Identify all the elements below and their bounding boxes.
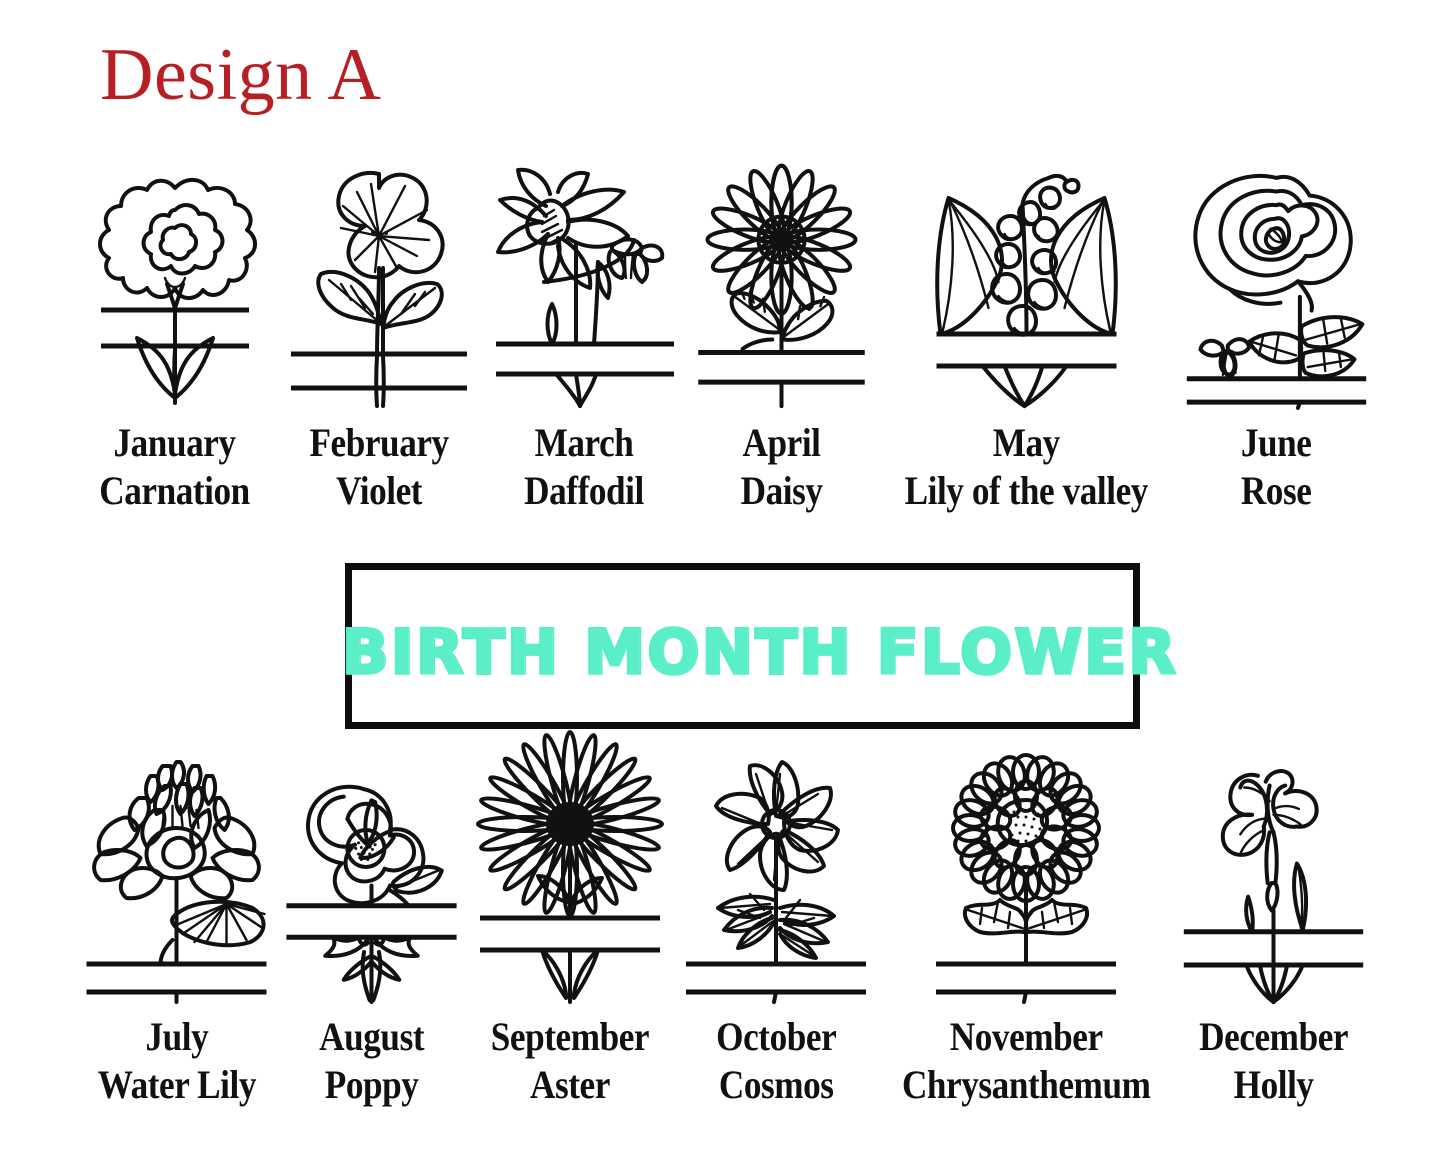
flower-name-label: Cosmos	[716, 1064, 836, 1106]
flower-name-label: Poppy	[319, 1064, 424, 1106]
daffodil-flower-icon	[479, 158, 689, 408]
flower-caption-november: November Chrysanthemum	[885, 1016, 1167, 1106]
month-label: November	[902, 1016, 1151, 1058]
month-label: January	[100, 422, 251, 464]
flower-row-top: January Carnation February	[0, 158, 1445, 512]
flower-name-label: Aster	[491, 1064, 649, 1106]
flower-cell-february[interactable]: February Violet	[279, 158, 479, 512]
rose-flower-icon	[1179, 158, 1374, 408]
month-label: February	[309, 422, 448, 464]
holly-flower-icon	[1176, 752, 1371, 1002]
flower-caption-september: September Aster	[480, 1016, 660, 1106]
flower-cell-august[interactable]: August Poppy	[279, 752, 464, 1106]
cosmos-flower-icon	[676, 752, 876, 1002]
flower-cell-june[interactable]: June Rose	[1179, 158, 1374, 512]
flower-caption-february: February Violet	[300, 422, 458, 512]
flower-cell-july[interactable]: July Water Lily	[74, 752, 279, 1106]
flower-cell-november[interactable]: November Chrysanthemum	[876, 752, 1176, 1106]
flower-caption-march: March Daffodil	[516, 422, 652, 512]
daisy-flower-icon	[689, 158, 874, 408]
chrysanthemum-flower-icon	[876, 752, 1176, 1002]
flower-name-label: Lily of the valley	[905, 470, 1148, 512]
month-label: May	[905, 422, 1148, 464]
flower-caption-may: May Lily of the valley	[888, 422, 1165, 512]
flower-row-bottom: July Water Lily	[0, 752, 1445, 1106]
flower-cell-september[interactable]: September Aster	[464, 752, 676, 1106]
flower-name-label: Water Lily	[97, 1064, 255, 1106]
water-lily-flower-icon	[74, 752, 279, 1002]
flower-caption-october: October Cosmos	[708, 1016, 844, 1106]
lily-of-the-valley-flower-icon	[874, 158, 1179, 408]
flower-name-label: Holly	[1199, 1064, 1348, 1106]
flower-cell-january[interactable]: January Carnation	[71, 158, 279, 512]
flower-name-label: Daisy	[741, 470, 823, 512]
month-label: April	[741, 422, 823, 464]
month-label: October	[716, 1016, 836, 1058]
aster-flower-icon	[464, 752, 676, 1002]
flower-caption-august: August Poppy	[312, 1016, 431, 1106]
flower-caption-january: January Carnation	[89, 422, 260, 512]
poppy-flower-icon	[279, 752, 464, 1002]
flower-cell-april[interactable]: April Daisy	[689, 158, 874, 512]
month-label: July	[97, 1016, 255, 1058]
flower-cell-march[interactable]: March Daffodil	[479, 158, 689, 512]
carnation-flower-icon	[71, 158, 279, 408]
flower-caption-july: July Water Lily	[87, 1016, 267, 1106]
month-label: March	[524, 422, 644, 464]
month-label: December	[1199, 1016, 1348, 1058]
banner-title: BIRTH MONTH FLOWER	[360, 612, 1160, 692]
flower-name-label: Rose	[1241, 470, 1312, 512]
month-label: August	[319, 1016, 424, 1058]
flower-caption-december: December Holly	[1189, 1016, 1358, 1106]
flower-name-label: Chrysanthemum	[902, 1064, 1151, 1106]
violet-flower-icon	[279, 158, 479, 408]
month-label: June	[1241, 422, 1312, 464]
month-label: September	[491, 1016, 649, 1058]
flower-name-label: Daffodil	[524, 470, 644, 512]
flower-name-label: Carnation	[100, 470, 251, 512]
flower-cell-october[interactable]: October Cosmos	[676, 752, 876, 1106]
flower-name-label: Violet	[309, 470, 448, 512]
page-title: Design A	[100, 38, 382, 112]
flower-caption-june: June Rose	[1236, 422, 1316, 512]
flower-cell-december[interactable]: December Holly	[1176, 752, 1371, 1106]
flower-caption-april: April Daisy	[735, 422, 828, 512]
flower-cell-may[interactable]: May Lily of the valley	[874, 158, 1179, 512]
